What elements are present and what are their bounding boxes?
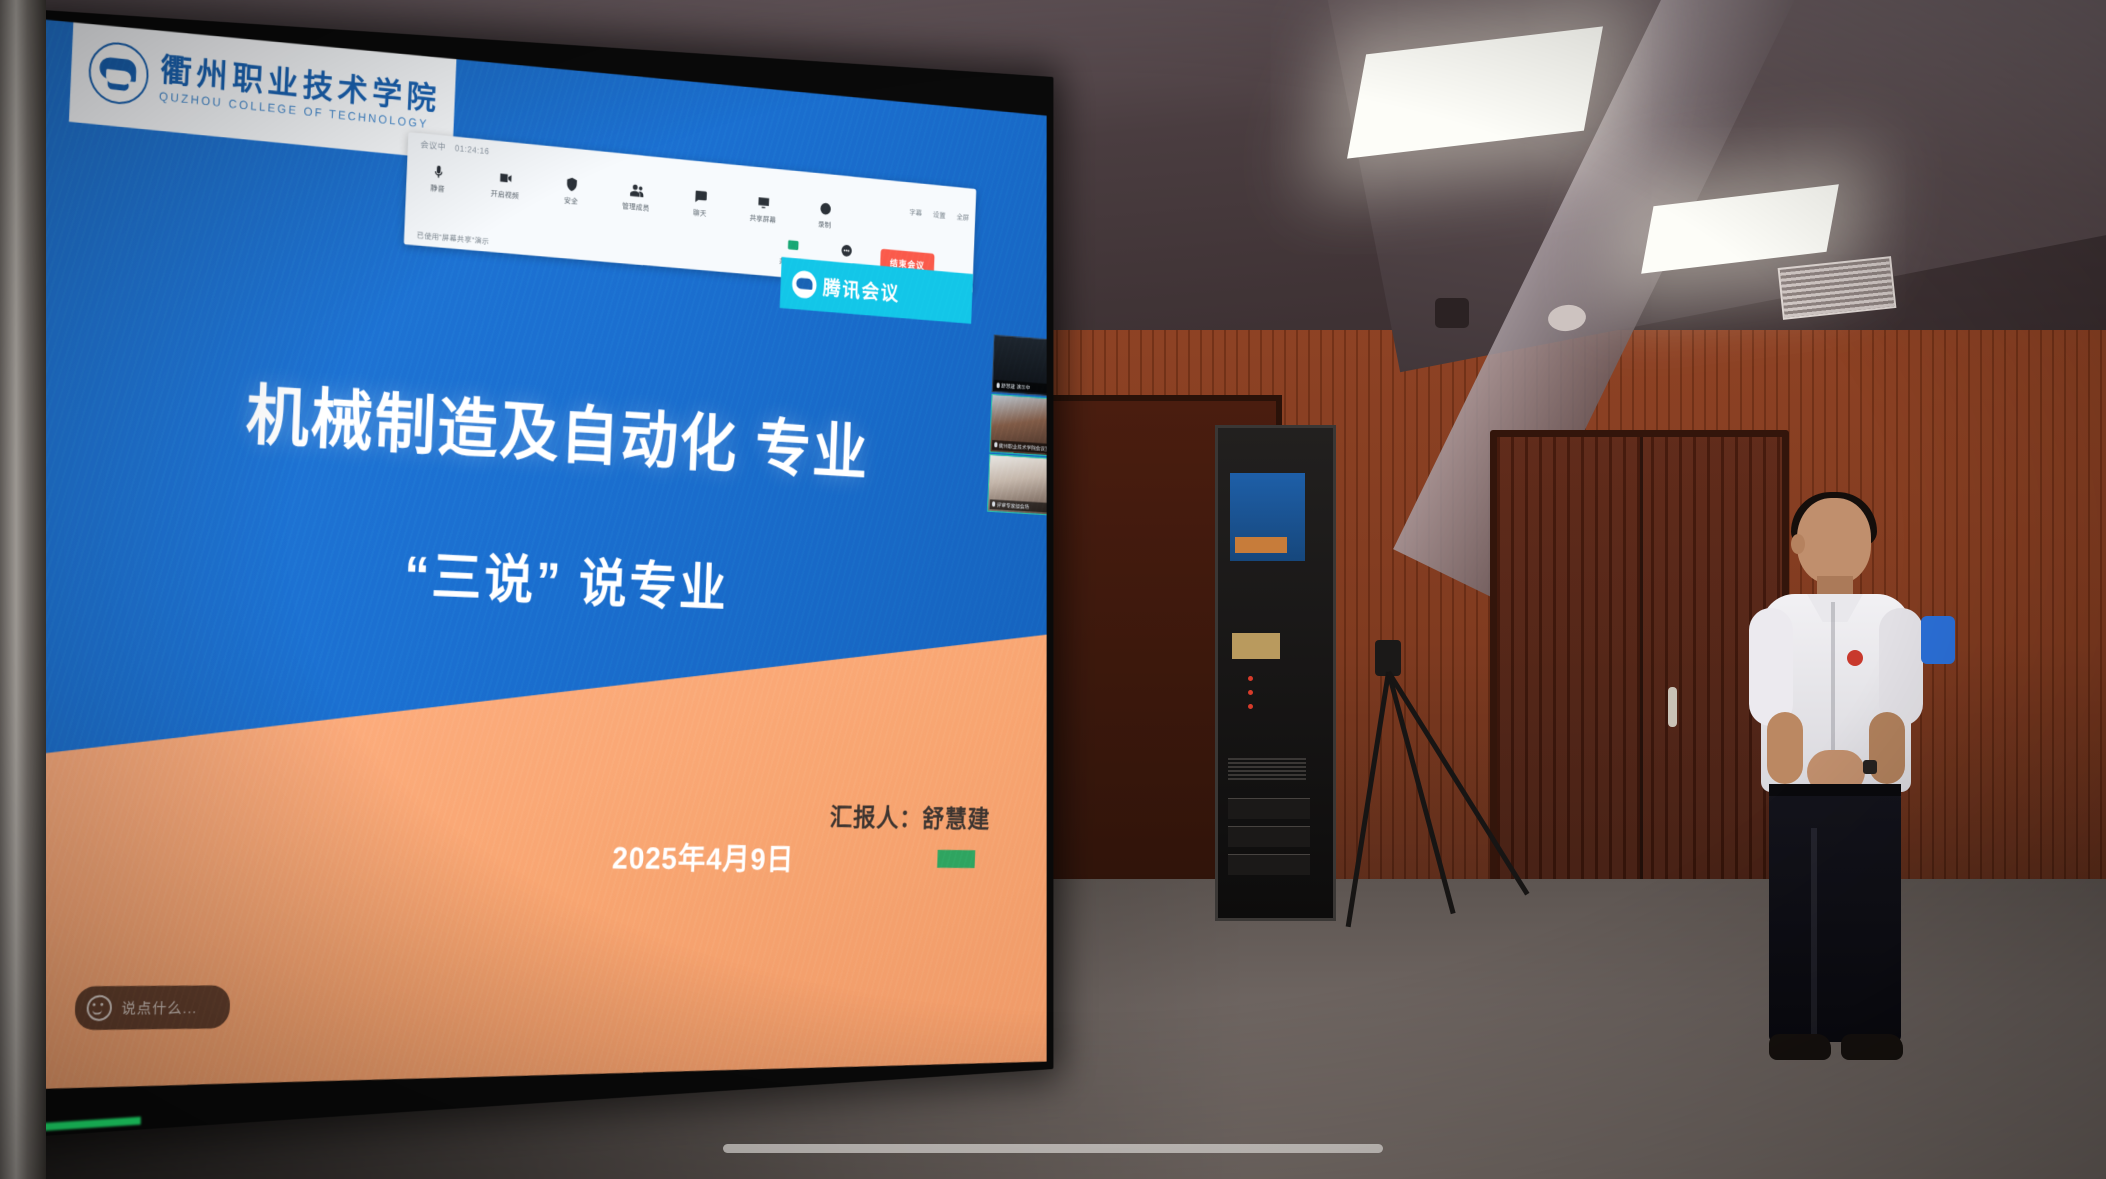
participants-icon xyxy=(629,182,644,199)
meeting-tool-label: 开启视频 xyxy=(490,188,518,201)
participant-thumbnail[interactable]: 衢州职业技术学院会议室 xyxy=(989,394,1046,457)
meeting-tool-share[interactable]: 共享屏幕 xyxy=(744,193,783,226)
meeting-action-fullscreen[interactable]: 全屏 xyxy=(956,212,969,223)
presenter-watch xyxy=(1863,760,1877,774)
presenter-head xyxy=(1797,498,1871,584)
participant-thumbnail[interactable]: 舒慧建 演示中 xyxy=(992,335,1047,398)
presenter-lapel-pin xyxy=(1847,650,1863,666)
meeting-action-captions[interactable]: 字幕 xyxy=(909,207,922,218)
presenter-shoe-left xyxy=(1769,1034,1831,1060)
meeting-status-label: 会议中 xyxy=(420,138,446,153)
participant-name: 衢州职业技术学院会议室 xyxy=(999,441,1047,452)
presenter-sleeve-left xyxy=(1749,608,1793,726)
chat-icon xyxy=(693,188,708,205)
microphone-icon xyxy=(994,442,997,448)
metal-pillar xyxy=(0,0,46,1179)
microphone-icon xyxy=(430,163,446,181)
meeting-watermark-logo-icon xyxy=(792,270,817,299)
slide-date: 2025年4月9日 xyxy=(612,833,796,879)
presenter-sleeve-right xyxy=(1879,608,1923,726)
meeting-tool-label: 聊天 xyxy=(693,208,707,219)
record-icon xyxy=(818,200,832,217)
wall-sign-icon xyxy=(1921,616,1955,664)
meeting-tool-security[interactable]: 安全 xyxy=(551,175,592,209)
participant-filmstrip: 舒慧建 演示中 衢州职业技术学院会议室 评审专家组会场 xyxy=(987,335,1046,516)
camera-icon xyxy=(498,169,514,186)
participant-caption: 评审专家组会场 xyxy=(990,499,1047,513)
meeting-tool-label: 管理成员 xyxy=(622,201,650,214)
meeting-tool-chat[interactable]: 聊天 xyxy=(680,187,720,220)
meeting-tool-label: 录制 xyxy=(818,219,831,230)
presenter-trousers xyxy=(1769,784,1901,1042)
share-screen-icon xyxy=(756,194,771,211)
participant-thumbnail[interactable]: 评审专家组会场 xyxy=(987,454,1046,516)
rack-display xyxy=(1230,473,1305,561)
meeting-share-note: 已使用“屏幕共享”演示 xyxy=(417,230,490,247)
comment-input-pill[interactable]: 说点什么... xyxy=(74,985,230,1030)
meeting-tool-label: 共享屏幕 xyxy=(749,213,776,225)
comment-placeholder: 说点什么... xyxy=(121,997,198,1018)
presenter-forearm-left xyxy=(1767,712,1803,784)
ceiling-camera-icon xyxy=(1435,298,1469,328)
microphone-icon xyxy=(997,383,1000,389)
led-video-wall: 衢州职业技术学院 QUZHOU COLLEGE OF TECHNOLOGY 机械… xyxy=(28,18,1047,1128)
rack-amber-panel xyxy=(1232,633,1280,659)
tripod-head xyxy=(1375,640,1401,676)
meeting-elapsed-time: 01:24:16 xyxy=(455,143,490,156)
meeting-tool-video[interactable]: 开启视频 xyxy=(484,168,526,202)
participant-name: 舒慧建 演示中 xyxy=(1001,382,1030,392)
presenter-ear xyxy=(1791,534,1805,554)
more-icon xyxy=(839,242,853,259)
led-screen-content: 衢州职业技术学院 QUZHOU COLLEGE OF TECHNOLOGY 机械… xyxy=(28,18,1047,1128)
presenter-belt xyxy=(1769,784,1901,796)
participant-caption: 舒慧建 演示中 xyxy=(994,380,1046,395)
participant-caption: 衢州职业技术学院会议室 xyxy=(992,440,1047,454)
meeting-tool-label: 安全 xyxy=(564,195,578,207)
slide-presenter: 汇报人：舒慧建 xyxy=(829,798,991,836)
meeting-tool-participants[interactable]: 管理成员 xyxy=(616,181,656,214)
meeting-tool-record[interactable]: 录制 xyxy=(806,199,844,231)
meeting-watermark-text: 腾讯会议 xyxy=(822,272,900,307)
meeting-tool-mute[interactable]: 静音 xyxy=(417,162,459,196)
presenter xyxy=(1745,498,1925,1068)
whiteboard-icon xyxy=(786,237,800,254)
av-equipment-rack xyxy=(1215,425,1336,921)
participant-name: 评审专家组会场 xyxy=(997,501,1030,511)
door-handle xyxy=(1668,687,1677,727)
microphone-icon xyxy=(992,502,995,507)
meeting-status-bar: 会议中 01:24:16 xyxy=(420,138,489,157)
smiley-icon[interactable] xyxy=(86,995,112,1021)
rack-vent xyxy=(1228,758,1306,780)
college-emblem-icon xyxy=(87,39,149,106)
meeting-tool-label: 静音 xyxy=(430,183,445,195)
presenter-shoe-right xyxy=(1841,1034,1903,1060)
meeting-action-settings[interactable]: 设置 xyxy=(933,210,946,221)
home-indicator[interactable] xyxy=(723,1144,1383,1153)
presenter-leg-seam xyxy=(1811,828,1817,1038)
video-frame: 衢州职业技术学院 QUZHOU COLLEGE OF TECHNOLOGY 机械… xyxy=(0,0,2106,1179)
shield-icon xyxy=(564,176,579,193)
screen-artifact-chip xyxy=(937,850,975,868)
